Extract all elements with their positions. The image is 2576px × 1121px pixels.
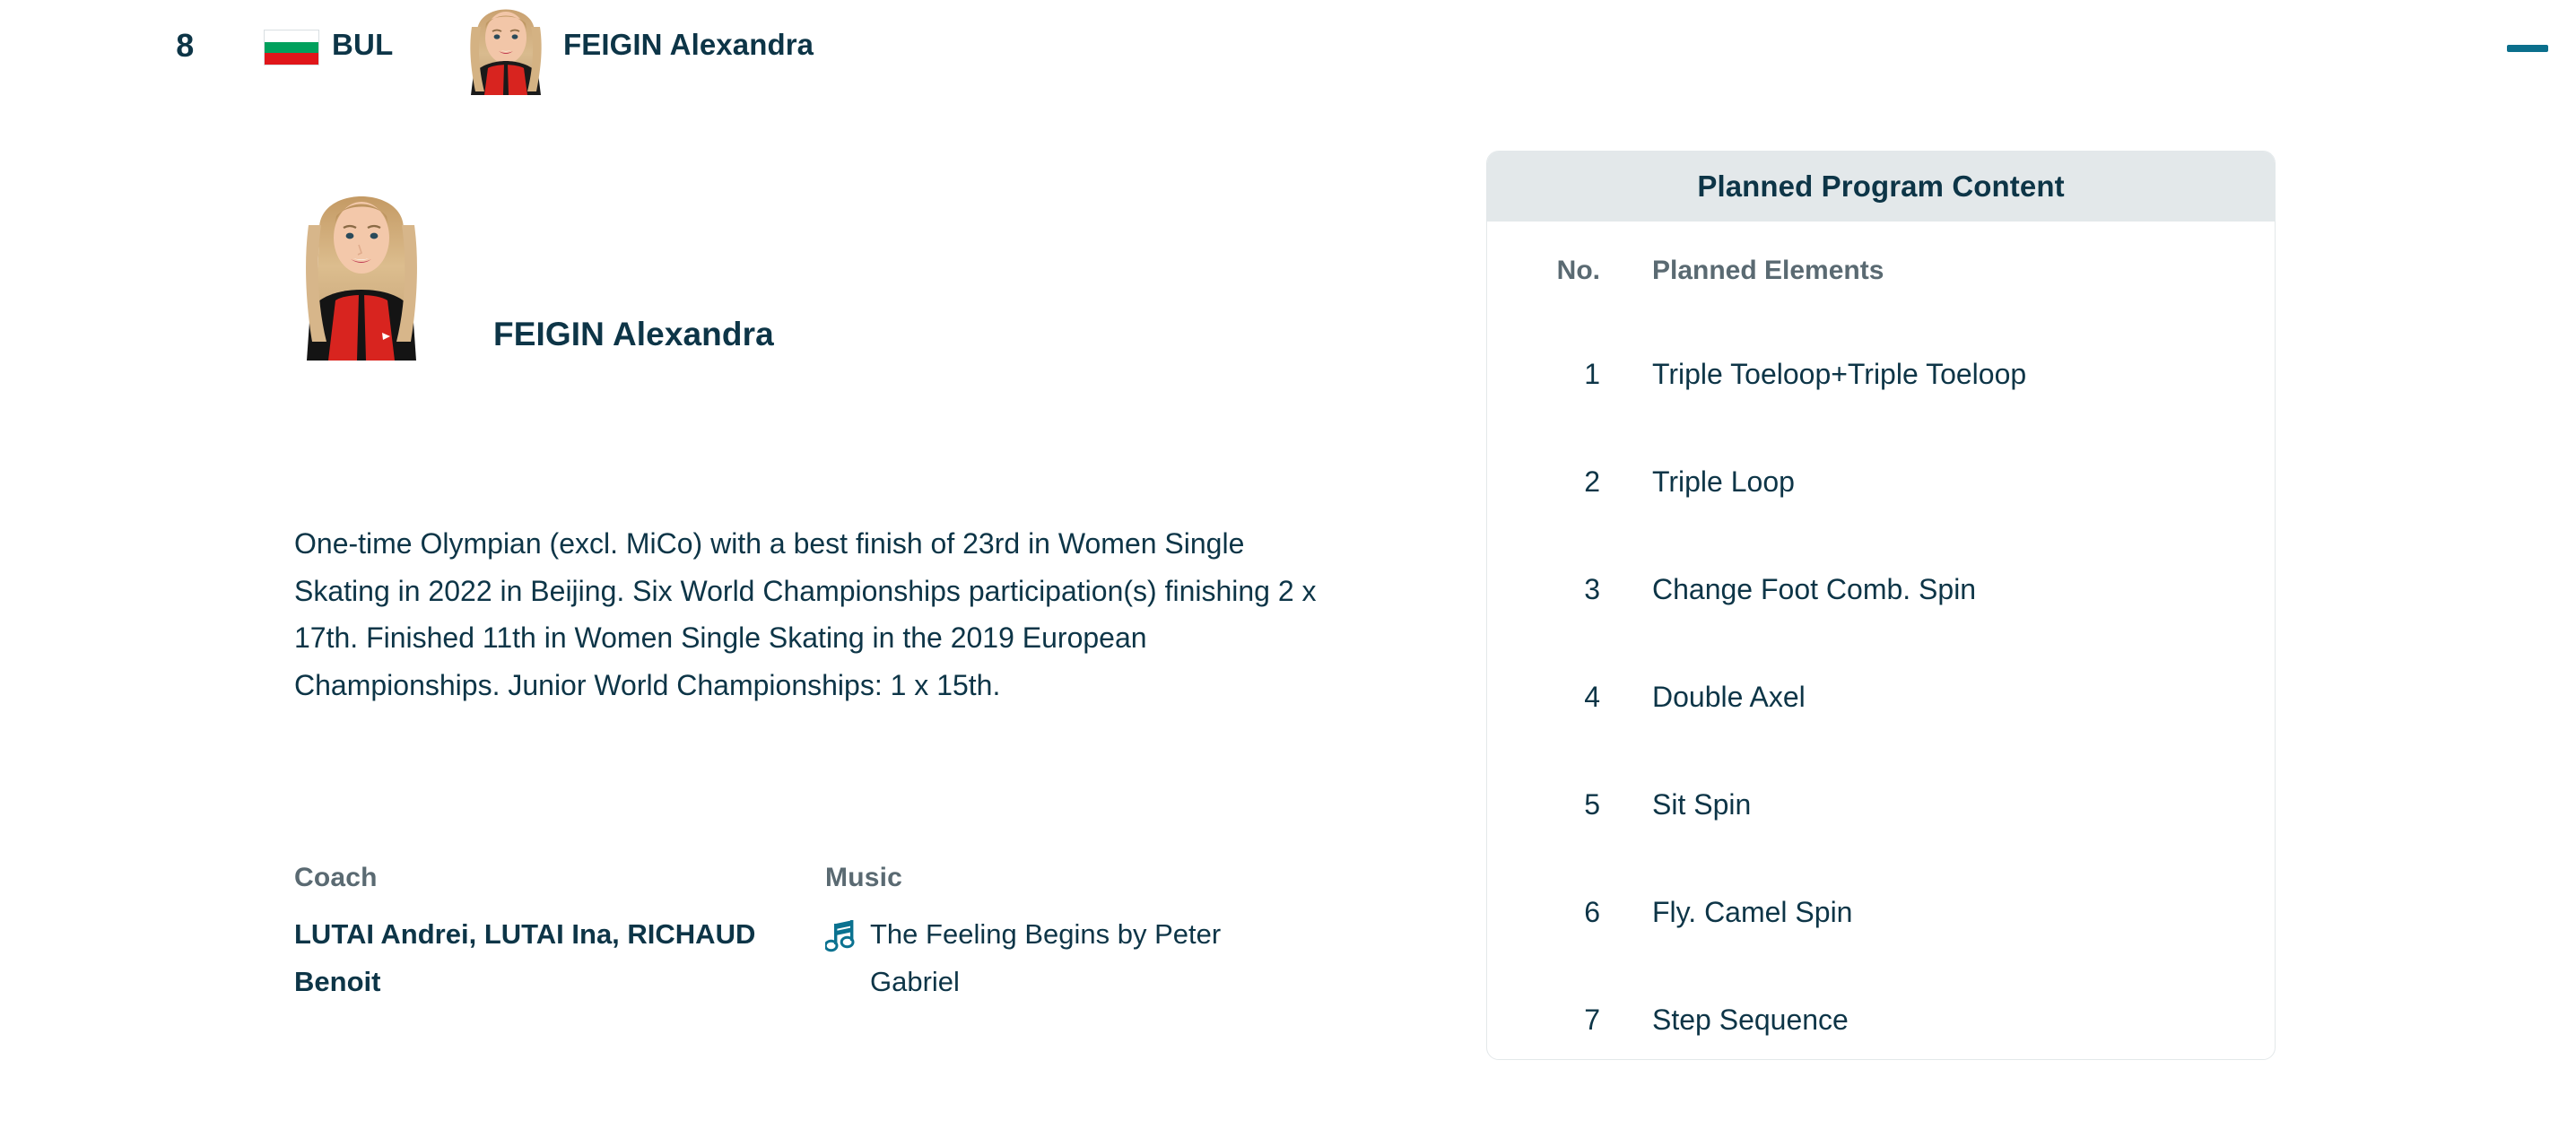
element-number: 6 <box>1487 858 1613 966</box>
profile-block: FEIGIN Alexandra One-time Olympian (excl… <box>0 100 1435 1121</box>
element-number: 4 <box>1487 643 1613 751</box>
music-label: Music <box>825 863 1327 893</box>
table-row: 4Double Axel <box>1487 643 2275 751</box>
table-row: 2Triple Loop <box>1487 428 2275 535</box>
planned-program-content-panel: Planned Program Content No. Planned Elem… <box>1486 151 2276 1060</box>
profile-skater-name: FEIGIN Alexandra <box>493 316 774 353</box>
table-row: 1Triple Toeloop+Triple Toeloop <box>1487 320 2275 428</box>
rank-number: 8 <box>167 27 203 65</box>
flag-band-white <box>265 30 318 42</box>
flag-band-red <box>265 53 318 65</box>
bulgaria-flag-icon <box>264 30 319 65</box>
planned-elements-tbody: 1Triple Toeloop+Triple Toeloop2Triple Lo… <box>1487 320 2275 1060</box>
music-note-icon <box>825 919 856 953</box>
music-title: The Feeling Begins by Peter Gabriel <box>870 910 1229 1005</box>
skater-avatar <box>296 175 427 361</box>
column-header-elements: Planned Elements <box>1613 222 2275 320</box>
table-header-row: No. Planned Elements <box>1487 222 2275 320</box>
minus-icon-bar <box>2507 45 2548 52</box>
column-header-no: No. <box>1487 222 1613 320</box>
element-name: Triple Toeloop+Triple Toeloop <box>1613 320 2275 428</box>
nation-code: BUL <box>332 28 393 62</box>
table-row: 6Fly. Camel Spin <box>1487 858 2275 966</box>
element-number: 7 <box>1487 966 1613 1060</box>
table-row: 3Change Foot Comb. Spin <box>1487 535 2275 643</box>
header-skater-name: FEIGIN Alexandra <box>563 28 814 62</box>
table-row: 7Step Sequence <box>1487 966 2275 1060</box>
element-name: Double Axel <box>1613 643 2275 751</box>
coach-label: Coach <box>294 863 796 893</box>
element-name: Sit Spin <box>1613 751 2275 858</box>
coach-value: LUTAI Andrei, LUTAI Ina, RICHAUD Benoit <box>294 910 796 1005</box>
skater-header-row[interactable]: 8 BUL <box>0 0 2576 100</box>
header-avatar <box>456 0 556 95</box>
element-number: 3 <box>1487 535 1613 643</box>
element-name: Step Sequence <box>1613 966 2275 1060</box>
planned-elements-thead: No. Planned Elements <box>1487 222 2275 320</box>
element-number: 2 <box>1487 428 1613 535</box>
element-name: Fly. Camel Spin <box>1613 858 2275 966</box>
planned-program-header: Planned Program Content <box>1487 152 2275 222</box>
coach-column: Coach LUTAI Andrei, LUTAI Ina, RICHAUD B… <box>294 863 796 1005</box>
element-number: 5 <box>1487 751 1613 858</box>
header-avatar-image <box>456 0 556 95</box>
minus-icon[interactable] <box>2506 39 2549 58</box>
table-row: 5Sit Spin <box>1487 751 2275 858</box>
element-name: Triple Loop <box>1613 428 2275 535</box>
skater-biography: One-time Olympian (excl. MiCo) with a be… <box>294 520 1335 708</box>
element-name: Change Foot Comb. Spin <box>1613 535 2275 643</box>
planned-elements-table: No. Planned Elements 1Triple Toeloop+Tri… <box>1487 222 2275 1060</box>
planned-program-title: Planned Program Content <box>1697 169 2064 204</box>
flag-band-green <box>265 42 318 54</box>
skater-avatar-image <box>296 175 427 361</box>
music-column: Music The Feeling Begins by Peter Gabrie… <box>825 863 1327 1005</box>
music-row: The Feeling Begins by Peter Gabriel <box>825 910 1327 1005</box>
music-note-glyph <box>825 919 856 953</box>
element-number: 1 <box>1487 320 1613 428</box>
